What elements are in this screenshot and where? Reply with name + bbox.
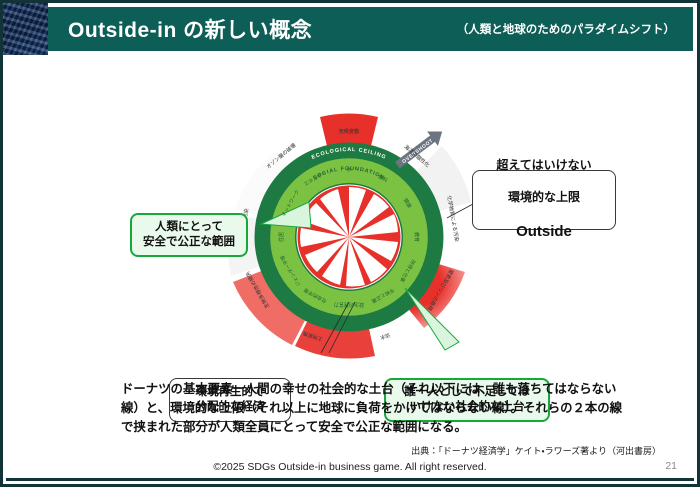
copyright-notice: ©2025 SDGs Outside-in business game. All…	[3, 461, 697, 473]
footer-divider	[6, 478, 694, 481]
page-title: Outside-in の新しい概念	[68, 14, 312, 44]
callout-ecological-ceiling: 超えてはいけない 環境的な上限 Outside	[472, 170, 616, 230]
diagram-item-label: 住居	[278, 232, 285, 242]
slide-canvas: ECOLOGICAL CEILING SOCIAL FOUNDATION OVE…	[6, 58, 694, 368]
source-citation: 出典：「ドーナツ経済学」ケイト・ラワーズ著より（河出書房）	[411, 444, 661, 457]
callout-safe-range: 人類にとって 安全で公正な範囲	[130, 213, 248, 257]
callout-line-3: Outside	[496, 222, 591, 242]
slide-header: Outside-in の新しい概念 （人類と地球のためのパラダイムシフト）	[3, 3, 697, 55]
diagram-item-label: 政治的発言力	[334, 301, 364, 308]
header-subtitle: （人類と地球のためのパラダイムシフト）	[457, 21, 675, 37]
header-bar: Outside-in の新しい概念 （人類と地球のためのパラダイムシフト）	[48, 7, 693, 51]
body-paragraph: ドーナツの基本要素ー人間の幸せの社会的な土台（それ以下には、誰も落ちてはならない…	[121, 380, 631, 438]
callout-line-1: 超えてはいけない	[496, 158, 591, 174]
callout-line-2: 環境的な上限	[496, 190, 591, 206]
diagram-item-label: 教育	[413, 232, 420, 242]
diagram-item-label: 水	[346, 166, 351, 173]
slide: Outside-in の新しい概念 （人類と地球のためのパラダイムシフト）	[0, 0, 700, 487]
diagram-item-label: 気候変動	[339, 127, 360, 135]
city-photo-tile-icon	[3, 3, 48, 55]
page-number: 21	[665, 460, 677, 472]
